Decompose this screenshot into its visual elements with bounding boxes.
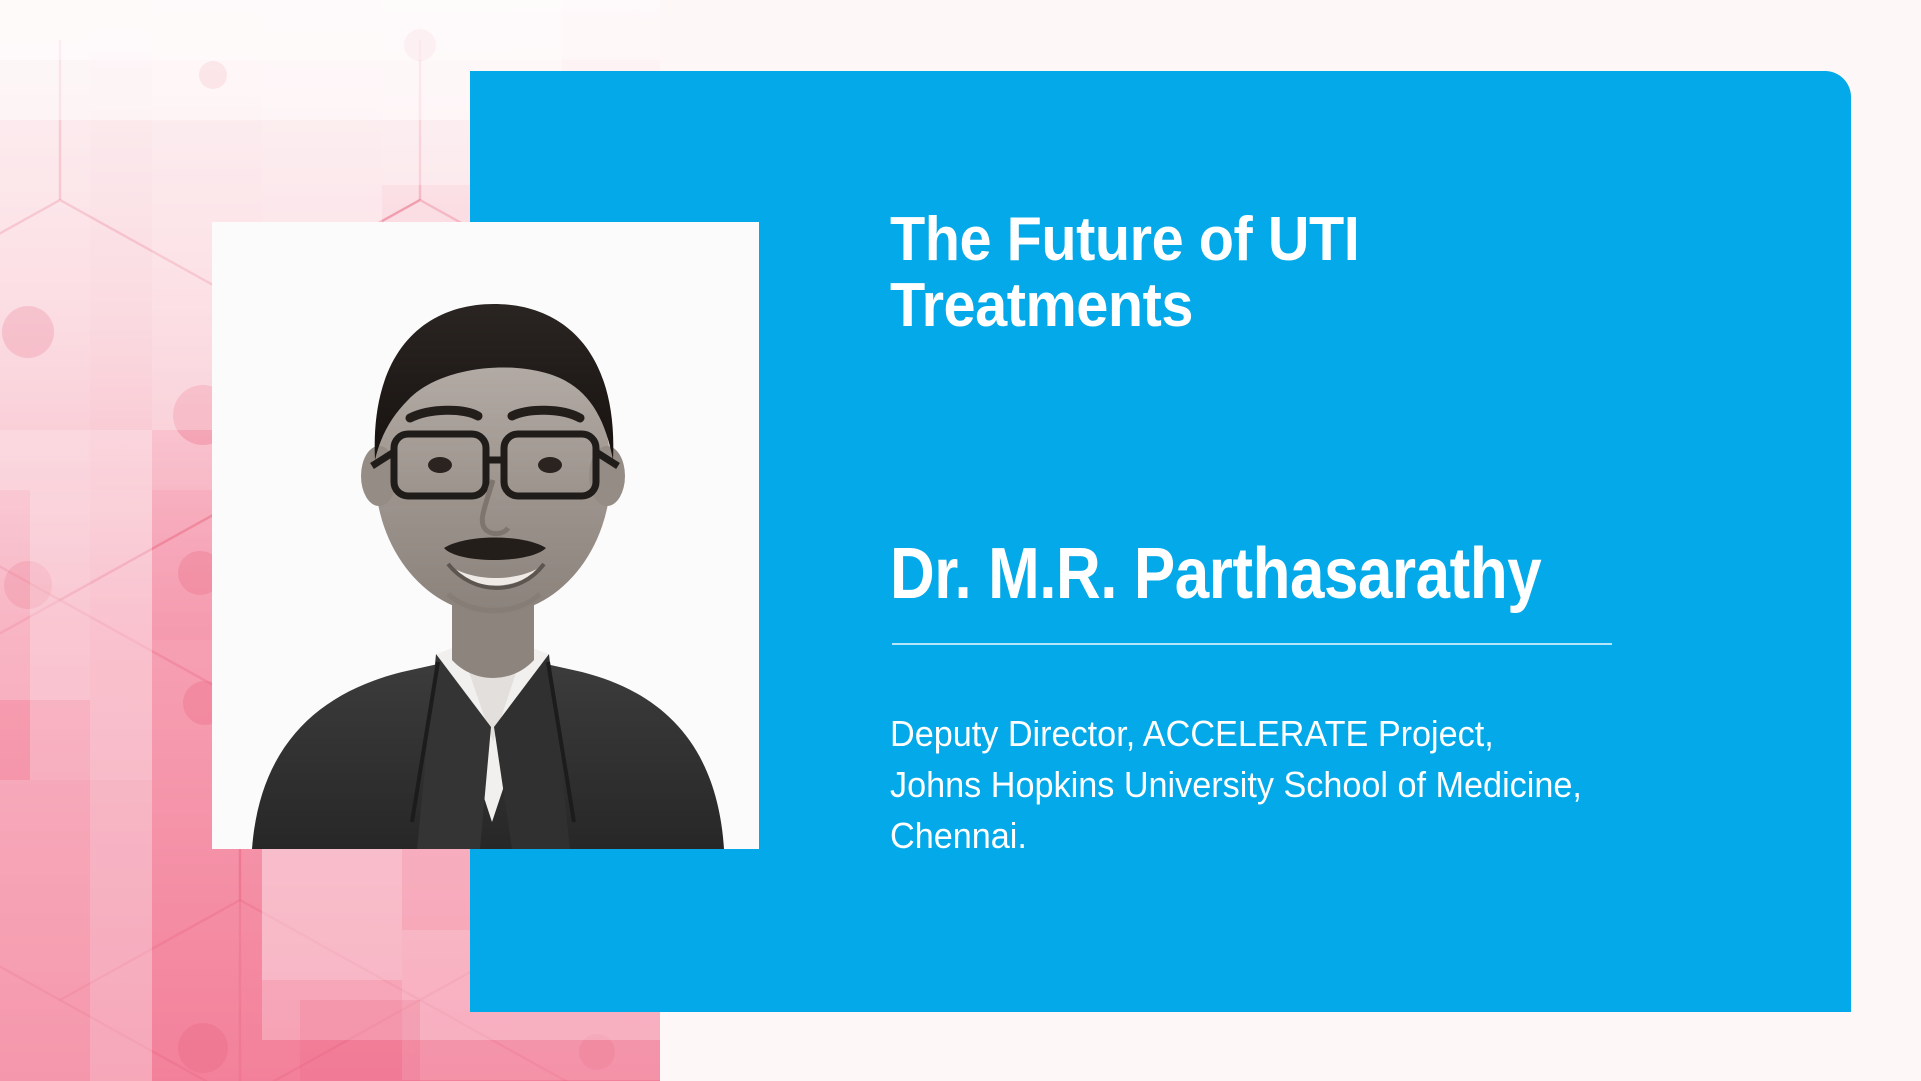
portrait-illustration <box>212 222 759 849</box>
speaker-name: Dr. M.R. Parthasarathy <box>890 538 1681 610</box>
divider <box>892 643 1612 645</box>
presentation-slide: The Future of UTI Treatments Dr. M.R. Pa… <box>0 0 1921 1081</box>
page-title: The Future of UTI Treatments <box>890 207 1541 338</box>
speaker-text-block: The Future of UTI Treatments Dr. M.R. Pa… <box>890 0 1850 1081</box>
speaker-affiliation: Deputy Director, ACCELERATE Project, Joh… <box>890 708 1821 861</box>
avatar <box>212 222 759 849</box>
